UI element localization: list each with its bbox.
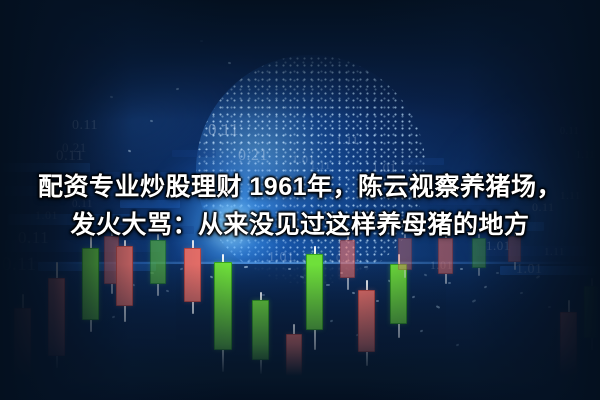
stock-banner-image: 0.111.010.110.110.110.110.210.110.211.01… [0, 0, 600, 400]
headline: 配资专业炒股理财 1961年，陈云视察养猪场， 发火大骂：从来没见过这样养母猪的… [0, 168, 600, 244]
headline-line-2: 发火大骂：从来没见过这样养母猪的地方 [14, 206, 586, 244]
headline-line-1: 配资专业炒股理财 1961年，陈云视察养猪场， [14, 168, 586, 206]
